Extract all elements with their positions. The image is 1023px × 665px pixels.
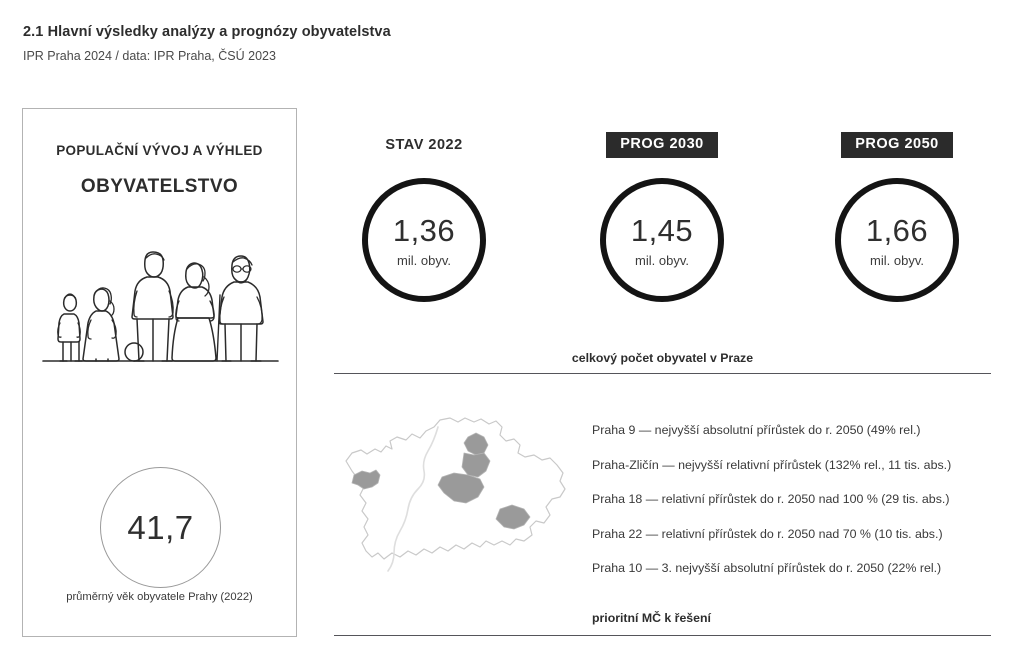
average-age-caption: průměrný věk obyvatele Prahy (2022) bbox=[23, 591, 296, 603]
results-column: STAV 2022 1,36 mil. obyv. PROG 2030 1,45… bbox=[334, 108, 991, 637]
stat-group-stav-2022: STAV 2022 1,36 mil. obyv. bbox=[334, 130, 514, 302]
stat-group-prog-2050: PROG 2050 1,66 mil. obyv. bbox=[807, 130, 987, 302]
average-age-value: 41,7 bbox=[101, 468, 220, 587]
stat-group-prog-2030: PROG 2030 1,45 mil. obyv. bbox=[572, 130, 752, 302]
page-subtitle: IPR Praha 2024 / data: IPR Praha, ČSÚ 20… bbox=[23, 49, 276, 63]
total-population-caption: celkový počet obyvatel v Praze bbox=[334, 351, 991, 365]
average-age-circle: 41,7 bbox=[100, 467, 221, 588]
stat-value: 1,36 bbox=[393, 215, 455, 246]
priority-districts-caption: prioritní MČ k řešení bbox=[592, 611, 711, 625]
stat-circle: 1,66 mil. obyv. bbox=[835, 178, 959, 302]
list-item: Praha 22 — relativní přírůstek do r. 205… bbox=[592, 527, 992, 541]
stat-circle: 1,36 mil. obyv. bbox=[362, 178, 486, 302]
prague-districts-map bbox=[334, 413, 574, 588]
family-line-illustration bbox=[38, 219, 283, 379]
page-title: 2.1 Hlavní výsledky analýzy a prognózy o… bbox=[23, 24, 391, 40]
stat-label-badge: PROG 2030 bbox=[606, 132, 718, 158]
stat-value: 1,45 bbox=[631, 215, 693, 246]
district-list: Praha 9 — nejvyšší absolutní přírůstek d… bbox=[592, 423, 992, 596]
stat-label-wrap: PROG 2030 bbox=[572, 130, 752, 160]
stat-unit: mil. obyv. bbox=[870, 253, 924, 268]
list-item: Praha-Zličín — nejvyšší relativní přírůs… bbox=[592, 458, 992, 472]
stat-label-badge: PROG 2050 bbox=[841, 132, 953, 158]
list-item: Praha 10 — 3. nejvyšší absolutní přírůst… bbox=[592, 561, 992, 575]
stat-unit: mil. obyv. bbox=[635, 253, 689, 268]
divider-bottom bbox=[334, 635, 991, 636]
panel-title-small: POPULAČNÍ VÝVOJ A VÝHLED bbox=[23, 143, 296, 158]
list-item: Praha 18 — relativní přírůstek do r. 205… bbox=[592, 492, 992, 506]
stat-label-wrap: PROG 2050 bbox=[807, 130, 987, 160]
stat-value: 1,66 bbox=[866, 215, 928, 246]
stat-label: STAV 2022 bbox=[385, 137, 462, 153]
stat-label-wrap: STAV 2022 bbox=[334, 130, 514, 160]
panel-title-large: OBYVATELSTVO bbox=[23, 176, 296, 198]
list-item: Praha 9 — nejvyšší absolutní přírůstek d… bbox=[592, 423, 992, 437]
divider-top bbox=[334, 373, 991, 374]
stat-unit: mil. obyv. bbox=[397, 253, 451, 268]
stat-circle: 1,45 mil. obyv. bbox=[600, 178, 724, 302]
population-overview-panel: POPULAČNÍ VÝVOJ A VÝHLED OBYVATELSTVO bbox=[22, 108, 297, 637]
